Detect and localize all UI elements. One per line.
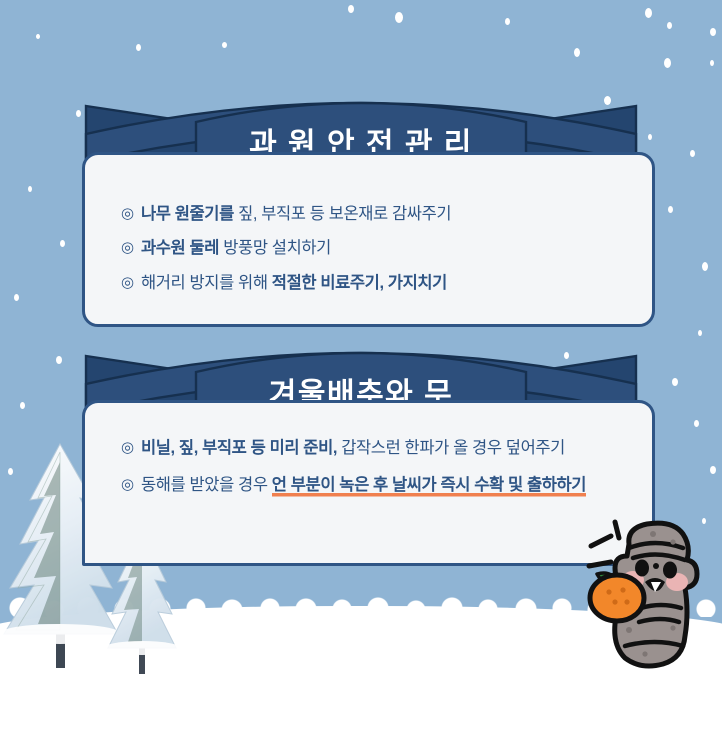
tangerine-icon xyxy=(590,573,644,621)
bullet-text: 비닐, 짚, 부직포 등 미리 준비, 갑작스런 한파가 올 경우 덮어주기 xyxy=(141,437,634,460)
mascot-nose xyxy=(653,563,659,569)
bullet-marker-icon: ◎ xyxy=(121,437,141,460)
dolhareubang-mascot xyxy=(585,508,715,683)
bullet-text: 동해를 받았을 경우 언 부분이 녹은 후 날씨가 즉시 수확 및 출하하기 xyxy=(141,474,634,497)
plain-phrase: 해거리 방지를 위해 xyxy=(141,274,272,292)
plain-phrase: 방풍망 설치하기 xyxy=(223,239,331,257)
bullet-list-1: ◎ 나무 원줄기를 짚, 부직포 등 보온재로 감싸주기 ◎ 과수원 둘레 방풍… xyxy=(121,203,634,306)
list-item: ◎ 비닐, 짚, 부직포 등 미리 준비, 갑작스런 한파가 올 경우 덮어주기 xyxy=(121,437,634,460)
plain-phrase: 동해를 받았을 경우 xyxy=(141,476,272,494)
list-item: ◎ 나무 원줄기를 짚, 부직포 등 보온재로 감싸주기 xyxy=(121,203,634,226)
mascot-eye-left xyxy=(635,560,649,577)
bullet-list-2: ◎ 비닐, 짚, 부직포 등 미리 준비, 갑작스런 한파가 올 경우 덮어주기… xyxy=(121,437,634,512)
bullet-marker-icon: ◎ xyxy=(121,237,141,260)
bullet-marker-icon: ◎ xyxy=(121,203,141,226)
bullet-marker-icon: ◎ xyxy=(121,272,141,295)
content-card-winter-cabbage: ◎ 비닐, 짚, 부직포 등 미리 준비, 갑작스런 한파가 올 경우 덮어주기… xyxy=(82,400,655,566)
bullet-marker-icon: ◎ xyxy=(121,474,141,497)
bullet-text: 해거리 방지를 위해 적절한 비료주기, 가지치기 xyxy=(141,272,634,295)
list-item: ◎ 동해를 받았을 경우 언 부분이 녹은 후 날씨가 즉시 수확 및 출하하기 xyxy=(121,474,634,497)
list-item: ◎ 과수원 둘레 방풍망 설치하기 xyxy=(121,237,634,260)
mascot-eye-right xyxy=(663,562,677,579)
bullet-text: 나무 원줄기를 짚, 부직포 등 보온재로 감싸주기 xyxy=(141,203,634,226)
bold-phrase: 적절한 비료주기, 가지치기 xyxy=(272,274,447,292)
bold-phrase: 나무 원줄기를 xyxy=(141,205,238,223)
plain-phrase: 갑작스런 한파가 올 경우 덮어주기 xyxy=(341,439,565,457)
list-item: ◎ 해거리 방지를 위해 적절한 비료주기, 가지치기 xyxy=(121,272,634,295)
content-card-pruning: ◎ 나무 원줄기를 짚, 부직포 등 보온재로 감싸주기 ◎ 과수원 둘레 방풍… xyxy=(82,152,655,327)
highlighted-phrase: 언 부분이 녹은 후 날씨가 즉시 수확 및 출하하기 xyxy=(272,476,586,497)
bullet-text: 과수원 둘레 방풍망 설치하기 xyxy=(141,237,634,260)
bold-phrase: 비닐, 짚, 부직포 등 미리 준비, xyxy=(141,439,341,457)
plain-phrase: 짚, 부직포 등 보온재로 감싸주기 xyxy=(238,205,451,223)
bold-phrase: 과수원 둘레 xyxy=(141,239,223,257)
